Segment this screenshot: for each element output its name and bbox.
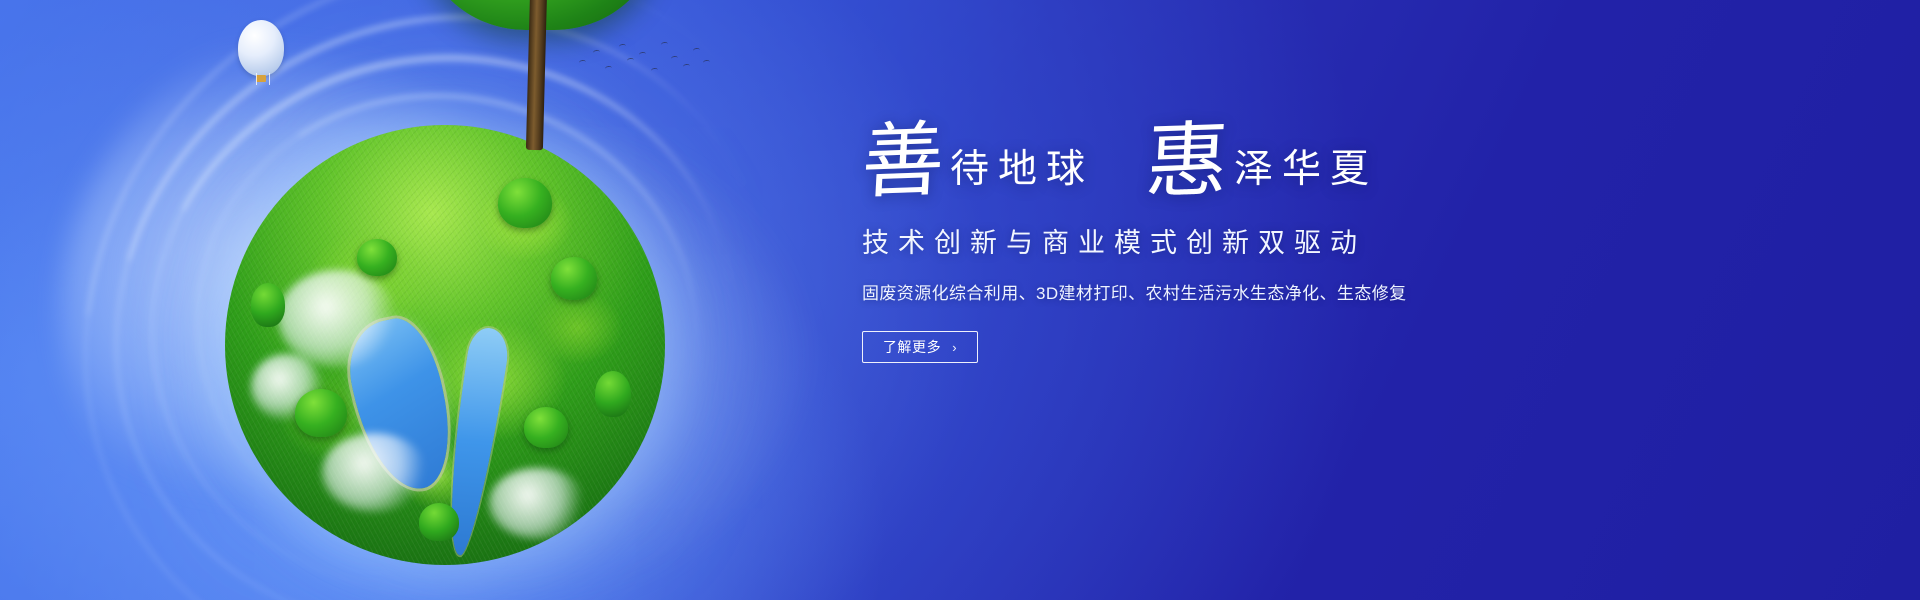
headline-phrase-1-big: 善: [860, 123, 946, 201]
tree-icon: [551, 257, 597, 300]
learn-more-button[interactable]: 了解更多 ›: [862, 331, 978, 363]
balloon-lines: [256, 73, 270, 85]
tree-icon: [251, 283, 285, 327]
chevron-right-icon: ›: [952, 341, 957, 354]
cloud-patch: [278, 270, 397, 367]
banner-subtitle: 技术创新与商业模式创新双驱动: [862, 221, 1562, 260]
hero-banner: 善 待地球 惠 泽华夏 技术创新与商业模式创新双驱动 固废资源化综合利用、3D建…: [0, 0, 1920, 600]
headline-phrase-2: 惠 泽华夏: [1146, 124, 1378, 199]
learn-more-label: 了解更多: [883, 337, 941, 357]
headline-phrase-1: 善 待地球: [862, 124, 1094, 199]
tree-icon: [419, 503, 459, 541]
banner-content: 善 待地球 惠 泽华夏 技术创新与商业模式创新双驱动 固废资源化综合利用、3D建…: [862, 124, 1562, 363]
headline-phrase-2-big: 惠: [1144, 123, 1230, 201]
headline-phrase-2-small: 泽华夏: [1234, 150, 1378, 199]
tree-icon: [357, 239, 397, 276]
tiny-planet-globe: [120, 0, 760, 600]
headline-phrase-1-small: 待地球: [950, 150, 1094, 199]
cloud-patch: [322, 433, 428, 512]
hot-air-balloon-icon: [238, 20, 284, 76]
tree-icon: [524, 407, 568, 448]
tree-icon: [595, 371, 631, 417]
banner-description: 固废资源化综合利用、3D建材打印、农村生活污水生态净化、生态修复: [862, 279, 1562, 304]
tree-icon: [295, 389, 347, 437]
cloud-patch: [489, 468, 586, 538]
tree-icon: [498, 178, 552, 228]
birds-flock-icon: [575, 38, 715, 90]
page-title: 善 待地球 惠 泽华夏: [862, 124, 1562, 199]
planet-sphere: [225, 125, 665, 565]
